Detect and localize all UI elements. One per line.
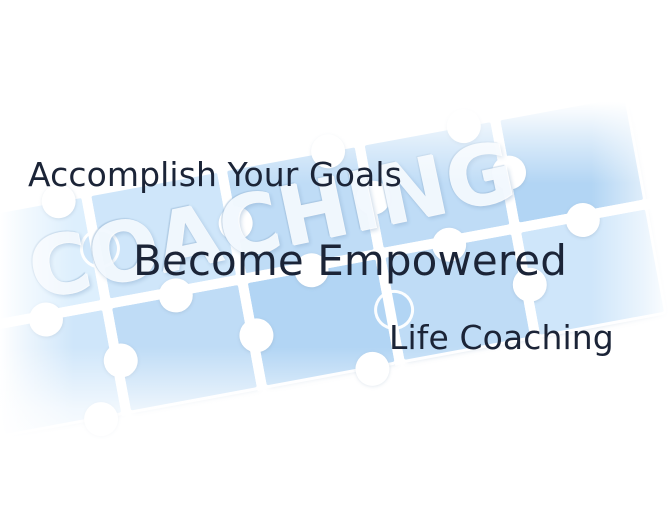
headline-accomplish-your-goals: Accomplish Your Goals [28,155,402,194]
headline-life-coaching: Life Coaching [389,318,614,357]
headline-become-empowered: Become Empowered [133,236,567,285]
life-coaching-banner: COACHING Accomplish Your Goals Become Em… [0,0,672,510]
